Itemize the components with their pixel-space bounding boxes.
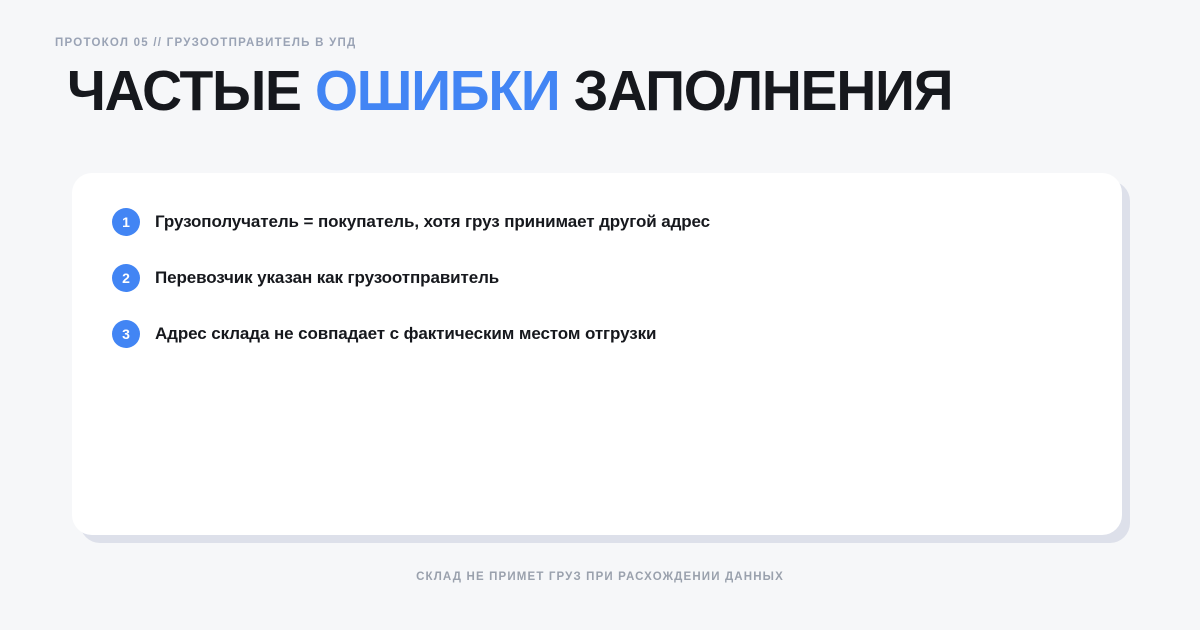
mistakes-list: 1 Грузополучатель = покупатель, хотя гру… [112, 208, 1082, 376]
content-card: 1 Грузополучатель = покупатель, хотя гру… [72, 173, 1122, 535]
list-item-label: Грузополучатель = покупатель, хотя груз … [155, 208, 710, 236]
content-card-wrapper: 1 Грузополучатель = покупатель, хотя гру… [72, 173, 1122, 535]
list-item-label: Перевозчик указан как грузоотправитель [155, 264, 499, 292]
page-title-accent: ОШИБКИ [315, 59, 560, 123]
list-item: 2 Перевозчик указан как грузоотправитель [112, 264, 1082, 292]
page-title-part1: ЧАСТЫЕ [67, 59, 315, 123]
page-title-part2: ЗАПОЛНЕНИЯ [560, 59, 953, 123]
list-item-label: Адрес склада не совпадает с фактическим … [155, 320, 656, 348]
eyebrow-label: ПРОТОКОЛ 05 // ГРУЗООТПРАВИТЕЛЬ В УПД [55, 36, 1145, 50]
list-item-number-badge: 3 [112, 320, 140, 348]
slide-root: ПРОТОКОЛ 05 // ГРУЗООТПРАВИТЕЛЬ В УПД ЧА… [0, 0, 1200, 630]
list-item-number-badge: 1 [112, 208, 140, 236]
slide-header: ПРОТОКОЛ 05 // ГРУЗООТПРАВИТЕЛЬ В УПД ЧА… [55, 36, 1145, 123]
page-title: ЧАСТЫЕ ОШИБКИ ЗАПОЛНЕНИЯ [67, 59, 1113, 123]
list-item: 1 Грузополучатель = покупатель, хотя гру… [112, 208, 1082, 236]
list-item: 3 Адрес склада не совпадает с фактически… [112, 320, 1082, 348]
footer-caption: СКЛАД НЕ ПРИМЕТ ГРУЗ ПРИ РАСХОЖДЕНИИ ДАН… [0, 569, 1200, 585]
list-item-number-badge: 2 [112, 264, 140, 292]
